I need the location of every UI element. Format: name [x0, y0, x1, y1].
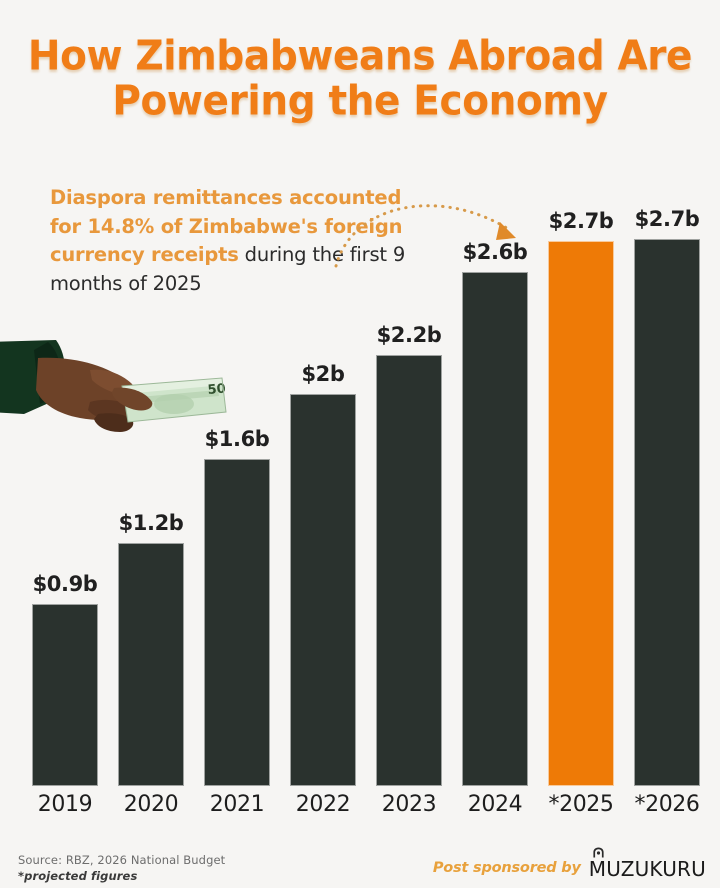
sponsor-brand[interactable]: MUZUKURU: [589, 855, 706, 881]
sponsor-credit: Post sponsored by MUZUKURU: [433, 855, 706, 881]
axis-label-2025: *2025: [531, 792, 631, 817]
bar-2019[interactable]: [32, 604, 98, 786]
bar-2024[interactable]: [462, 272, 528, 786]
footer-source: Source: RBZ, 2026 National Budget *proje…: [18, 852, 225, 885]
axis-label-2023: 2023: [359, 792, 459, 817]
axis-label-2026: *2026: [617, 792, 717, 817]
bar-2020[interactable]: [118, 543, 184, 786]
bar-value-2022: $2b: [263, 362, 383, 386]
bar-value-2023: $2.2b: [349, 323, 469, 347]
bar-2021[interactable]: [204, 459, 270, 786]
bar-value-2019: $0.9b: [5, 572, 125, 596]
axis-label-2019: 2019: [15, 792, 115, 817]
bar-value-2026: $2.7b: [607, 207, 720, 231]
sponsor-brand-text: MUZUKURU: [589, 857, 706, 881]
bar-2023[interactable]: [376, 355, 442, 786]
infographic-canvas: How Zimbabweans Abroad Are Powering the …: [0, 0, 720, 888]
bar-value-2021: $1.6b: [177, 427, 297, 451]
axis-label-2021: 2021: [187, 792, 287, 817]
bar-value-2020: $1.2b: [91, 511, 211, 535]
bar-2025-highlight[interactable]: [548, 241, 614, 786]
bar-chart: $0.9b 2019 $1.2b 2020 $1.6b 2021 $2b 202…: [0, 0, 720, 888]
bar-2026[interactable]: [634, 239, 700, 786]
axis-label-2022: 2022: [273, 792, 373, 817]
muzukuru-logo-icon: [592, 847, 605, 858]
axis-label-2020: 2020: [101, 792, 201, 817]
bar-2022[interactable]: [290, 394, 356, 786]
projected-note: *projected figures: [18, 868, 225, 884]
axis-label-2024: 2024: [445, 792, 545, 817]
bar-value-2024: $2.6b: [435, 240, 555, 264]
source-text: Source: RBZ, 2026 National Budget: [18, 853, 225, 867]
sponsor-prefix: Post sponsored by: [433, 860, 581, 876]
